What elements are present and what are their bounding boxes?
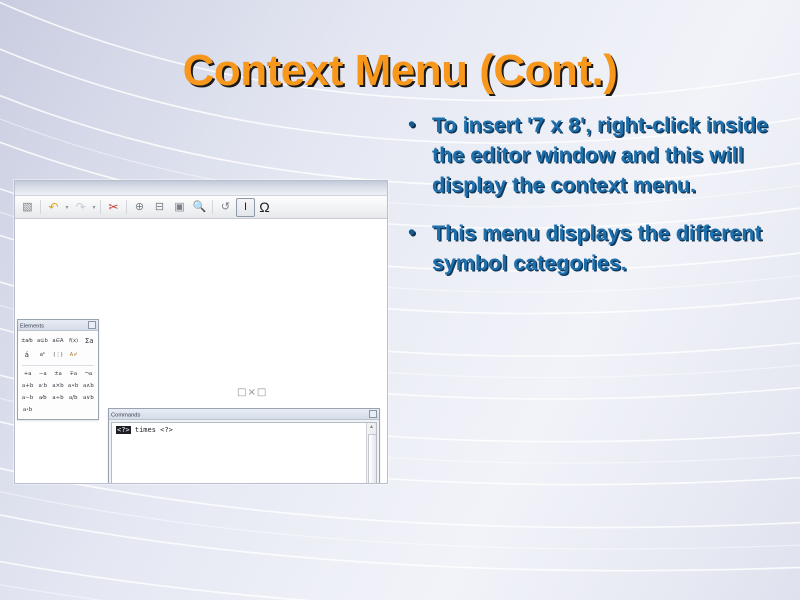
elements-symbol-9[interactable]: a∧b [81, 381, 96, 390]
elements-symbol-4[interactable]: ¬a [81, 369, 96, 378]
elements-symbol-3[interactable]: ∓a [66, 369, 81, 378]
undo-dropdown-caret-icon[interactable]: ▾ [64, 204, 70, 211]
divider [22, 365, 94, 366]
zoom-fit-icon[interactable]: 🔍 [190, 198, 209, 217]
commands-panel-title-bar[interactable]: Commands [109, 409, 379, 420]
elements-symbol-12[interactable]: a÷b [50, 393, 65, 402]
elements-category-attributes[interactable]: á [19, 348, 35, 361]
refresh-icon[interactable]: ↺ [216, 198, 235, 217]
dock-icon[interactable] [88, 321, 96, 329]
math-editor-screenshot: ▧↶▾↷▾✂⊕⊟▣🔍↺IΩ □×□ Elements ±a⁄ba⊆ba∈Af(x… [14, 180, 388, 484]
zoom-100-icon[interactable]: ▣ [170, 198, 189, 217]
bullet-text: This menu displays the different symbol … [432, 218, 780, 278]
toolbar-separator [126, 200, 127, 214]
elements-symbol-14[interactable]: a∨b [81, 393, 96, 402]
bullet-list: • To insert '7 x 8', right-click inside … [408, 110, 780, 296]
elements-category-operators[interactable]: Σa [81, 334, 97, 347]
elements-symbol-15[interactable]: a∘b [20, 405, 35, 414]
redo-dropdown-caret-icon[interactable]: ▾ [91, 204, 97, 211]
cut-icon[interactable]: ✂ [104, 198, 123, 217]
elements-symbol-7[interactable]: a×b [50, 381, 65, 390]
toolbar-separator [40, 200, 41, 214]
bullet-marker-icon: • [408, 110, 432, 140]
dock-icon[interactable] [369, 410, 377, 418]
elements-symbol-11[interactable]: a⁄b [35, 393, 50, 402]
list-item: • To insert '7 x 8', right-click inside … [408, 110, 780, 200]
editor-toolbar: ▧↶▾↷▾✂⊕⊟▣🔍↺IΩ [15, 196, 387, 219]
elements-category-unary-binary-operators[interactable]: ±a⁄b [19, 334, 35, 347]
elements-category-set-operations[interactable]: a∈A [50, 334, 66, 347]
toolbar-separator [100, 200, 101, 214]
undo-icon[interactable]: ↶ [44, 198, 63, 217]
toolbar-separator [212, 200, 213, 214]
commands-panel: Commands <?> times <?> ▲ ▼ ◀ ▶ [108, 408, 380, 484]
elements-category-formats[interactable]: aᵇ [35, 348, 51, 361]
bullet-marker-icon: • [408, 218, 432, 248]
elements-symbol-13[interactable]: a/b [66, 393, 81, 402]
bullet-text: To insert '7 x 8', right-click inside th… [432, 110, 780, 200]
elements-category-relations[interactable]: a⊆b [35, 334, 51, 347]
new-document-icon[interactable]: ▧ [18, 198, 37, 217]
elements-symbol-5[interactable]: a+b [20, 381, 35, 390]
commands-command-line: <?> times <?> [116, 426, 173, 434]
redo-icon[interactable]: ↷ [71, 198, 90, 217]
presentation-slide: Context Menu (Cont.) • To insert '7 x 8'… [0, 0, 800, 600]
elements-symbol-grid: +a−a±a∓a¬aa+ba·ba×ba∗ba∧ba−ba⁄ba÷ba/ba∨b… [18, 369, 98, 419]
symbols-omega-icon[interactable]: Ω [256, 198, 273, 217]
elements-category-functions[interactable]: f(x) [66, 334, 82, 347]
commands-vertical-scrollbar[interactable]: ▲ ▼ [366, 423, 376, 484]
scrollbar-thumb[interactable] [368, 434, 377, 484]
elements-symbol-10[interactable]: a−b [20, 393, 35, 402]
elements-symbol-0[interactable]: +a [20, 369, 35, 378]
list-item: • This menu displays the different symbo… [408, 218, 780, 278]
elements-symbol-1[interactable]: −a [35, 369, 50, 378]
elements-symbol-6[interactable]: a·b [35, 381, 50, 390]
commands-panel-title: Commands [111, 411, 140, 417]
zoom-in-icon[interactable]: ⊕ [130, 198, 149, 217]
elements-symbol-8[interactable]: a∗b [66, 381, 81, 390]
elements-panel-title: Elements [20, 322, 44, 328]
elements-panel-title-bar[interactable]: Elements [18, 320, 98, 331]
scroll-up-icon[interactable]: ▲ [369, 425, 374, 430]
formula-cursor-icon[interactable]: I [236, 198, 255, 217]
selected-placeholder-token: <?> [116, 426, 131, 434]
formula-placeholder: □×□ [237, 387, 267, 398]
zoom-out-icon[interactable]: ⊟ [150, 198, 169, 217]
page-title: Context Menu (Cont.) [0, 46, 800, 96]
elements-category-grid: ±a⁄ba⊆ba∈Af(x)Σaáaᵇ(⋮)A✐ [18, 331, 98, 363]
editor-title-bar [15, 181, 387, 196]
elements-symbol-2[interactable]: ±a [50, 369, 65, 378]
elements-panel: Elements ±a⁄ba⊆ba∈Af(x)Σaáaᵇ(⋮)A✐ +a−a±a… [17, 319, 99, 420]
elements-category-others[interactable]: A✐ [66, 348, 82, 361]
commands-text-area[interactable]: <?> times <?> ▲ ▼ [111, 422, 377, 484]
elements-category-brackets[interactable]: (⋮) [50, 348, 66, 361]
command-rest-text: times <?> [131, 426, 173, 434]
editor-canvas[interactable]: □×□ Elements ±a⁄ba⊆ba∈Af(x)Σaáaᵇ(⋮)A✐ +a… [15, 219, 387, 484]
